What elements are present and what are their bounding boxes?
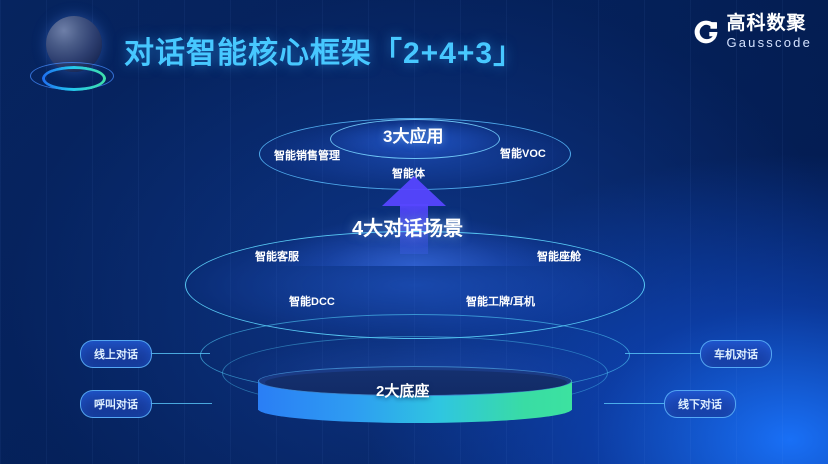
middle-layer-item-2: 智能DCC <box>289 293 335 309</box>
middle-layer-title: 4大对话场景 <box>352 212 463 241</box>
brand-name-en: Gausscode <box>726 36 812 49</box>
framework-diagram: 3大应用 智能销售管理 智能VOC 智能体 4大对话场景 智能客服 智能座舱 智… <box>0 96 828 464</box>
brand-name-cn: 高科数聚 <box>726 14 812 33</box>
brand-logo: 高科数聚 Gausscode <box>693 14 812 49</box>
top-layer-item-1: 智能VOC <box>500 145 546 161</box>
pill-call-dialogue[interactable]: 呼叫对话 <box>80 390 152 418</box>
pill-incar-dialogue[interactable]: 车机对话 <box>700 340 772 368</box>
connector-line-0 <box>150 353 210 354</box>
base-layer-cylinder: 2大底座 <box>258 366 572 422</box>
page-title: 对话智能核心框架「2+4+3」 <box>124 28 524 72</box>
connector-line-1 <box>150 403 212 404</box>
pill-online-dialogue[interactable]: 线上对话 <box>80 340 152 368</box>
slide-canvas: 对话智能核心框架「2+4+3」 高科数聚 Gausscode 3大应用 智能销售… <box>0 0 828 464</box>
sphere-inner-ring-icon <box>42 66 106 91</box>
base-layer-title: 2大底座 <box>376 380 429 401</box>
middle-layer-item-1: 智能座舱 <box>537 248 581 264</box>
pill-offline-dialogue[interactable]: 线下对话 <box>664 390 736 418</box>
connector-line-3 <box>604 403 664 404</box>
slide-header: 对话智能核心框架「2+4+3」 高科数聚 Gausscode <box>0 0 828 100</box>
middle-layer-item-3: 智能工牌/耳机 <box>466 293 535 309</box>
middle-layer-item-0: 智能客服 <box>255 248 299 264</box>
brand-text: 高科数聚 Gausscode <box>726 14 812 49</box>
top-layer-title: 3大应用 <box>383 122 443 147</box>
top-layer-item-0: 智能销售管理 <box>274 147 340 163</box>
gausscode-g-mark-icon <box>693 19 719 45</box>
sphere-glow-logo-icon <box>28 14 114 96</box>
connector-line-2 <box>625 353 700 354</box>
